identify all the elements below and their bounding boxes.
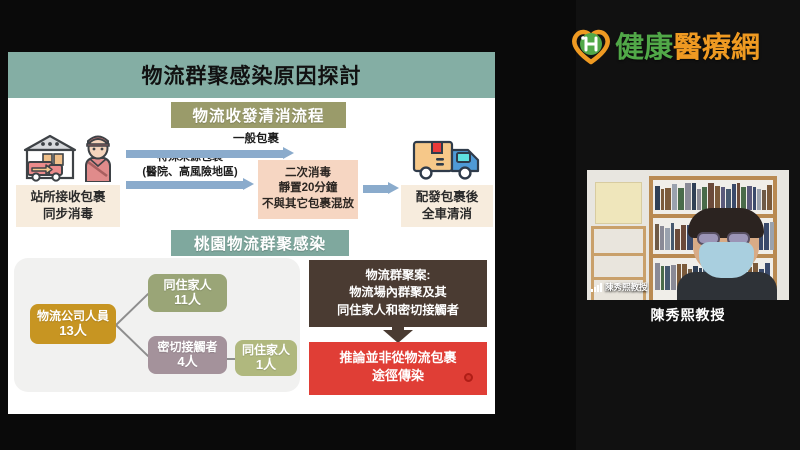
presenter-name-caption: 陳秀熙教授 xyxy=(587,305,789,325)
delivery-caption-line-2: 全車清消 xyxy=(403,206,491,223)
delivery-truck-icon xyxy=(401,130,493,182)
tree-node-family-2: 同住家人 1人 xyxy=(235,340,297,376)
tree-node-label: 同住家人 xyxy=(242,343,290,357)
station-caption-line-1: 站所接收包裹 xyxy=(18,189,118,206)
conclusion-box: 物流群聚案: 物流場內群聚及其 同住家人和密切接觸者 xyxy=(309,260,487,327)
tree-node-count: 13人 xyxy=(59,323,86,338)
video-overlay-name-label: 陳秀熙教授 xyxy=(605,281,648,293)
result-box: 推論並非從物流包裹 途徑傳染 xyxy=(309,342,487,395)
courier-person-icon xyxy=(81,132,115,182)
tree-node-label: 物流公司人員 xyxy=(37,309,109,323)
conclusion-line-2: 物流場內群聚及其 xyxy=(313,284,483,301)
tree-node-count: 11人 xyxy=(174,292,201,307)
normal-parcel-label: 一般包裹 xyxy=(204,130,308,146)
arrow-head xyxy=(243,178,254,190)
face-mask-icon xyxy=(699,242,754,278)
arrow-head xyxy=(388,182,399,194)
arrow-shaft xyxy=(363,185,388,193)
delivery-caption: 配發包裹後 全車清消 xyxy=(401,185,493,227)
section-banner-flow-label: 物流收發清消流程 xyxy=(192,104,324,126)
laser-pointer-cursor xyxy=(464,373,473,382)
second-disinfection-line-3: 不與其它包裹混放 xyxy=(261,197,355,212)
conclusion-line-3: 同住家人和密切接觸者 xyxy=(313,302,483,319)
tree-node-label: 同住家人 xyxy=(163,278,211,292)
warehouse-icon xyxy=(21,132,79,182)
arrow-shaft xyxy=(126,150,283,158)
tree-link xyxy=(115,324,148,356)
result-line-1: 推論並非從物流包裹 xyxy=(313,349,483,367)
tree-node-company: 物流公司人員 13人 xyxy=(30,304,116,344)
section-banner-cluster: 桃園物流群聚感染 xyxy=(171,230,349,256)
second-disinfection-line-2: 靜置20分鐘 xyxy=(261,181,355,196)
station-group: 站所接收包裹 同步消毒 xyxy=(16,130,120,227)
logo-wordmark: 健康 醫療網 xyxy=(615,24,760,66)
arrow-special-path xyxy=(126,178,254,191)
participant-video-tile[interactable]: 陳秀熙教授 xyxy=(587,170,789,300)
tree-node-close-contact: 密切接觸者 4人 xyxy=(148,336,227,374)
section-banner-flow: 物流收發清消流程 xyxy=(171,102,346,128)
delivery-caption-line-1: 配發包裹後 xyxy=(403,189,491,206)
logo-text-orange: 醫療網 xyxy=(673,24,760,66)
slide-title-bar: 物流群聚感染原因探討 xyxy=(8,52,495,98)
delivery-group: 配發包裹後 全車清消 xyxy=(401,130,493,227)
truck-with-box-icon xyxy=(410,132,484,182)
audio-level-bars-icon xyxy=(591,283,602,292)
cabinet xyxy=(595,182,642,224)
slide-body: 物流收發清消流程 xyxy=(8,98,495,414)
tree-node-label: 密切接觸者 xyxy=(157,340,217,354)
arrow-head xyxy=(283,147,294,159)
arrow-shaft xyxy=(126,181,243,189)
heart-h-logo-icon xyxy=(570,25,612,65)
presenter-figure xyxy=(675,212,779,300)
arrow-normal-path xyxy=(126,147,294,160)
site-logo: 健康 醫療網 xyxy=(570,22,760,68)
screen-share-window: 物流群聚感染原因探討 物流收發清消流程 xyxy=(0,0,800,450)
warehouse-truck-courier-icon xyxy=(16,130,120,182)
section-banner-cluster-label: 桃園物流群聚感染 xyxy=(194,232,326,254)
arrow-to-delivery xyxy=(363,182,399,195)
station-caption-line-2: 同步消毒 xyxy=(18,206,118,223)
logo-text-green: 健康 xyxy=(615,24,673,66)
conclusion-line-1: 物流群聚案: xyxy=(313,267,483,284)
page-title: 物流群聚感染原因探討 xyxy=(142,60,362,90)
down-arrow-icon xyxy=(383,321,413,343)
tree-link xyxy=(115,293,148,325)
shelf-divider xyxy=(594,253,643,256)
tree-node-family-1: 同住家人 11人 xyxy=(148,274,227,312)
tree-node-count: 1人 xyxy=(256,357,276,372)
result-line-2: 途徑傳染 xyxy=(313,367,483,385)
station-caption: 站所接收包裹 同步消毒 xyxy=(16,185,120,227)
tree-node-count: 4人 xyxy=(177,354,197,369)
cluster-tree-panel: 物流公司人員 13人 同住家人 11人 密切接觸者 4人 同住家人 1人 xyxy=(14,258,300,392)
video-name-overlay: 陳秀熙教授 xyxy=(587,280,652,294)
second-disinfection-box: 二次消毒 靜置20分鐘 不與其它包裹混放 xyxy=(258,160,358,219)
tree-link xyxy=(227,358,235,360)
second-disinfection-line-1: 二次消毒 xyxy=(261,166,355,181)
presentation-slide[interactable]: 物流群聚感染原因探討 物流收發清消流程 xyxy=(8,52,495,414)
